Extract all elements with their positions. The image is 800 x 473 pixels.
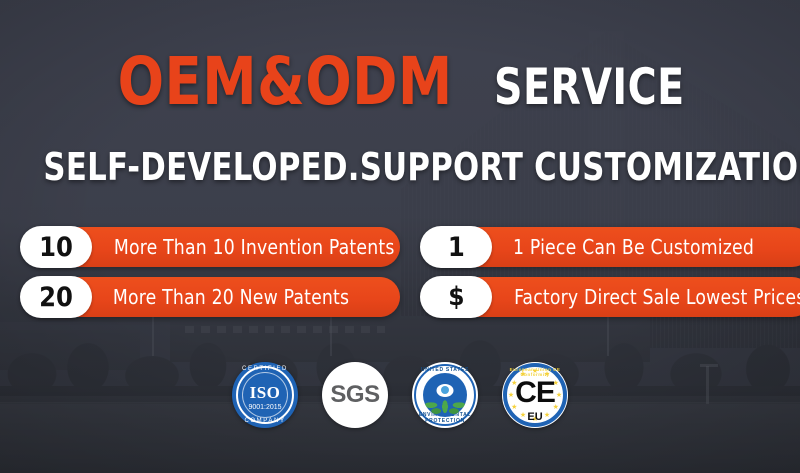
iso-wordmark: ISO <box>250 384 281 401</box>
certification-logo-row: CERTIFIED COMPANY ISO 9001:2015 SGS UNIT… <box>0 362 800 428</box>
badge-marker: 20 <box>20 276 92 318</box>
iso-certification-logo: CERTIFIED COMPANY ISO 9001:2015 <box>232 362 298 428</box>
feature-badge[interactable]: 1 1 Piece Can Be Customized <box>422 227 800 267</box>
sgs-wordmark: SGS <box>330 383 379 407</box>
subheadline-text: SELF-DEVELOPED.SUPPORT CUSTOMIZATION <box>43 148 800 186</box>
ce-eu-certification-logo: European Union CE Conformity ★★★★★★★★★★★… <box>502 362 568 428</box>
iso-standard-number: 9001:2015 <box>248 404 281 411</box>
promotional-banner: OEM&ODMSERVICE SELF-DEVELOPED.SUPPORT CU… <box>0 0 800 473</box>
banner-content: OEM&ODMSERVICE SELF-DEVELOPED.SUPPORT CU… <box>0 0 800 473</box>
epa-inner-disc <box>423 373 467 417</box>
sgs-certification-logo: SGS <box>322 362 388 428</box>
badge-label: More Than 20 New Patents <box>108 287 354 307</box>
badge-label: More Than 10 Invention Patents <box>108 237 400 257</box>
headline-secondary: SERVICE <box>494 62 685 112</box>
feature-badge-grid: 10 More Than 10 Invention Patents 1 1 Pi… <box>22 227 778 317</box>
epa-leaves-icon <box>423 393 467 415</box>
eu-label: EU <box>502 412 568 423</box>
sgs-disc: SGS <box>322 362 388 428</box>
badge-marker-dollar-icon: $ <box>420 276 492 318</box>
badge-label: Factory Direct Sale Lowest Prices <box>508 287 800 307</box>
iso-arc-bottom-text: COMPANY <box>232 418 298 424</box>
badge-label: 1 Piece Can Be Customized <box>508 237 759 257</box>
badge-marker: 1 <box>420 226 492 268</box>
headline-primary: OEM&ODM <box>117 49 452 115</box>
epa-certification-logo: UNITED STATES ENVIRONMENTAL PROTECTION <box>412 362 478 428</box>
feature-badge[interactable]: 10 More Than 10 Invention Patents <box>22 227 400 267</box>
feature-badge[interactable]: 20 More Than 20 New Patents <box>22 277 400 317</box>
subheadline: SELF-DEVELOPED.SUPPORT CUSTOMIZATION <box>0 148 800 186</box>
badge-marker: 10 <box>20 226 92 268</box>
headline: OEM&ODMSERVICE <box>0 49 800 115</box>
iso-inner-disc: ISO 9001:2015 <box>242 372 288 418</box>
feature-badge[interactable]: $ Factory Direct Sale Lowest Prices <box>422 277 800 317</box>
